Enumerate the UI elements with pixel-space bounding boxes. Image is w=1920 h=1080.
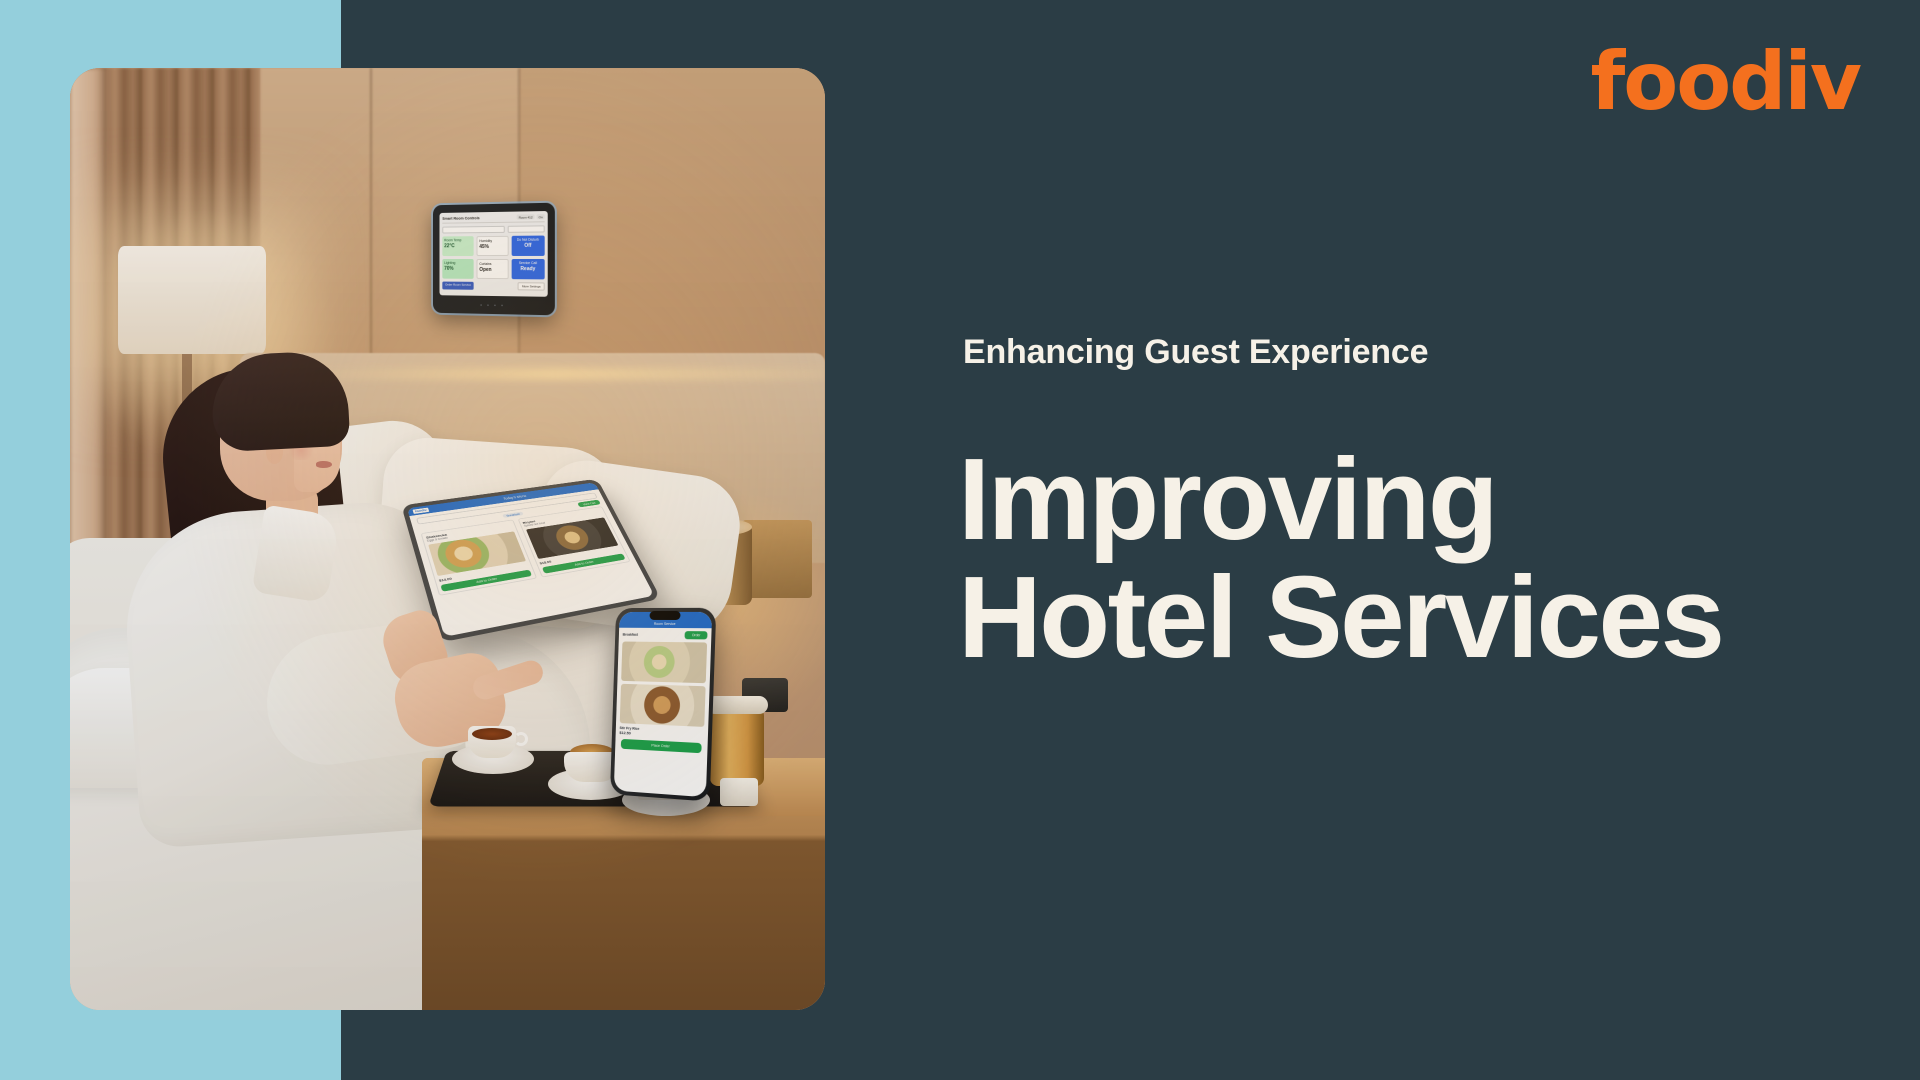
wall-panel-status-chip: On: [537, 214, 545, 219]
guest-lips: [316, 461, 332, 468]
phone-item-price: $12.50: [619, 730, 631, 735]
hero-photo: Smart Room Controls Room 412 On Room Tem…: [70, 68, 825, 1010]
wall-panel-tile[interactable]: Curtains Open: [476, 258, 508, 278]
wall-panel-tile[interactable]: Do Not Disturb Off: [511, 236, 544, 256]
slide-headline: Improving Hotel Services: [958, 440, 1858, 677]
tile-value: 70%: [444, 265, 472, 271]
menu-item-price: $14.00: [438, 576, 452, 582]
menu-item-card[interactable]: Shakshuka Eggs & tomato $14.00 Add to Or…: [421, 520, 537, 596]
phone-place-order-button[interactable]: Place Order: [621, 739, 702, 753]
phone-item-photo: [620, 684, 706, 727]
tea-cup-handle: [514, 732, 528, 746]
headboard-cove-light: [285, 368, 825, 380]
tile-label: Do Not Disturb: [517, 238, 539, 242]
phone-app-title: Room Service: [654, 622, 676, 626]
wall-panel-room-chip: Room 412: [517, 214, 535, 219]
slide-canvas: Smart Room Controls Room 412 On Room Tem…: [0, 0, 1920, 1080]
tea-liquid: [472, 728, 512, 740]
wall-sconce-arm: [742, 520, 812, 598]
tablet-app-logo: foodiv: [412, 507, 429, 513]
coffee-carafe: [710, 708, 764, 786]
wall-mounted-control-panel[interactable]: Smart Room Controls Room 412 On Room Tem…: [433, 203, 555, 316]
phone-section-row: Breakfast Order: [619, 628, 712, 640]
tile-value: 22°C: [444, 243, 472, 249]
wall-panel-indicator-dots: • • • •: [433, 302, 555, 310]
wall-panel-settings-button[interactable]: More Settings: [518, 282, 545, 290]
menu-item-add-button[interactable]: Add to Order: [542, 554, 626, 574]
tile-label: Curtains: [479, 261, 491, 265]
wall-panel-tile[interactable]: Lighting 70%: [442, 259, 474, 279]
brand-logo: foodiv: [1590, 42, 1860, 122]
menu-item-price: $18.00: [539, 560, 552, 566]
tile-label: Lighting: [444, 260, 455, 264]
phone-section-label: Breakfast: [623, 633, 638, 637]
wall-panel-header: Smart Room Controls Room 412 On: [442, 214, 544, 224]
tile-label: Humidity: [479, 239, 492, 243]
wall-panel-title: Smart Room Controls: [442, 216, 479, 221]
wall-panel-tile[interactable]: Service Call Ready: [511, 258, 544, 278]
phone-order-button[interactable]: Order: [685, 631, 708, 639]
coffee-carafe-lid: [706, 696, 768, 714]
wall-panel-footer: Order Room Service More Settings: [442, 281, 544, 290]
tile-value: 45%: [479, 244, 506, 250]
tile-value: Open: [479, 266, 506, 272]
wall-panel-tile[interactable]: Room Temp 22°C: [442, 236, 474, 256]
wall-panel-fields: [442, 225, 544, 233]
slide-kicker: Enhancing Guest Experience: [963, 333, 1428, 372]
tile-value: Ready: [513, 266, 542, 272]
sugar-bowl: [720, 778, 758, 806]
tile-label: Service Call: [519, 261, 537, 265]
wall-panel-tile[interactable]: Humidity 45%: [476, 236, 508, 256]
guest-phone-device[interactable]: Room Service Breakfast Order Stir Fry Ri…: [610, 608, 716, 802]
phone-notch: [649, 611, 680, 620]
wall-panel-tile-grid: Room Temp 22°C Humidity 45% Do Not Distu…: [442, 236, 544, 279]
headline-line-2: Hotel Services: [958, 558, 1858, 676]
tile-value: Off: [513, 243, 542, 249]
wall-panel-order-button[interactable]: Order Room Service: [442, 281, 474, 289]
phone-item-photo: [621, 642, 707, 684]
guest-robe-collar: [252, 505, 341, 604]
headline-line-1: Improving: [958, 434, 1496, 564]
phone-screen[interactable]: Room Service Breakfast Order Stir Fry Ri…: [614, 612, 712, 797]
tile-label: Room Temp: [444, 238, 461, 242]
wall-panel-screen[interactable]: Smart Room Controls Room 412 On Room Tem…: [440, 211, 548, 297]
wall-panel-temp-field[interactable]: [442, 226, 505, 234]
table-lamp-shade: [118, 246, 266, 354]
wall-panel-preset-field[interactable]: [508, 225, 545, 233]
